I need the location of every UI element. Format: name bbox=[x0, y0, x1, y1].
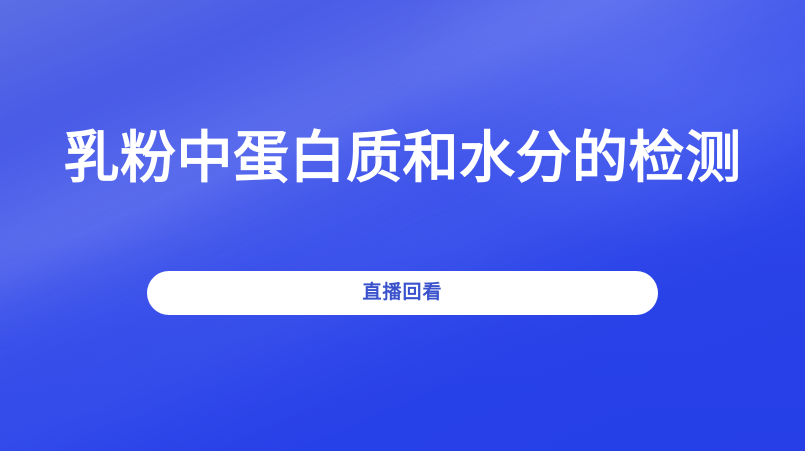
banner-title: 乳粉中蛋白质和水分的检测 bbox=[64, 128, 742, 188]
live-replay-button[interactable]: 直播回看 bbox=[147, 271, 658, 315]
banner-content: 乳粉中蛋白质和水分的检测 直播回看 bbox=[0, 0, 805, 451]
live-replay-button-label: 直播回看 bbox=[362, 283, 442, 302]
promo-banner: 乳粉中蛋白质和水分的检测 直播回看 bbox=[0, 0, 805, 451]
